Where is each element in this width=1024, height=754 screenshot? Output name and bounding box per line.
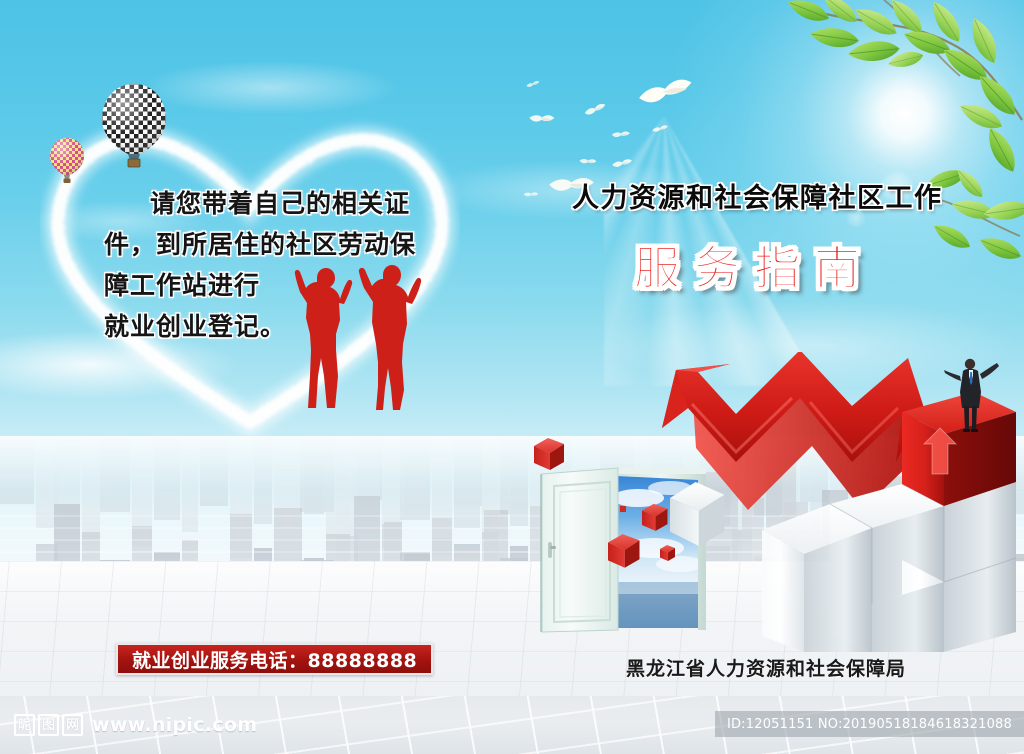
- footer-watermark-bar: 昵 图 网 www.nipic.com ID:12051151 NO:20190…: [0, 696, 1024, 754]
- hot-air-balloon-pink-icon: [48, 136, 86, 184]
- organization-name: 黑龙江省人力资源和社会保障局: [626, 654, 906, 681]
- watermark-char: 图: [38, 714, 59, 736]
- instruction-line: 件，到所居住的社区劳动保: [104, 224, 434, 265]
- instruction-line: 障工作站进行: [104, 265, 434, 306]
- watermark-char: 昵: [14, 714, 35, 736]
- nipic-watermark-logo: 昵 图 网 www.nipic.com: [14, 714, 257, 736]
- image-id-label: ID:12051151 NO:20190518184618321088: [715, 711, 1024, 737]
- hotline-text: 就业创业服务电话：88888888: [132, 646, 417, 673]
- watermark-url: www.nipic.com: [92, 714, 257, 736]
- poster-canvas: 请您带着自己的相关证 件，到所居住的社区劳动保 障工作站进行 就业创业登记。 人…: [0, 0, 1024, 754]
- watermark-char: 网: [62, 714, 83, 736]
- instruction-paragraph: 请您带着自己的相关证 件，到所居住的社区劳动保 障工作站进行 就业创业登记。: [104, 183, 434, 347]
- page-title: 人力资源和社会保障社区工作: [572, 176, 943, 215]
- page-subtitle: 服务指南: [634, 232, 874, 298]
- instruction-line: 请您带着自己的相关证: [104, 183, 434, 224]
- hot-air-balloon-checkered-icon: [98, 80, 170, 170]
- hotline-banner: 就业创业服务电话：88888888: [116, 643, 433, 675]
- instruction-line: 就业创业登记。: [104, 306, 434, 347]
